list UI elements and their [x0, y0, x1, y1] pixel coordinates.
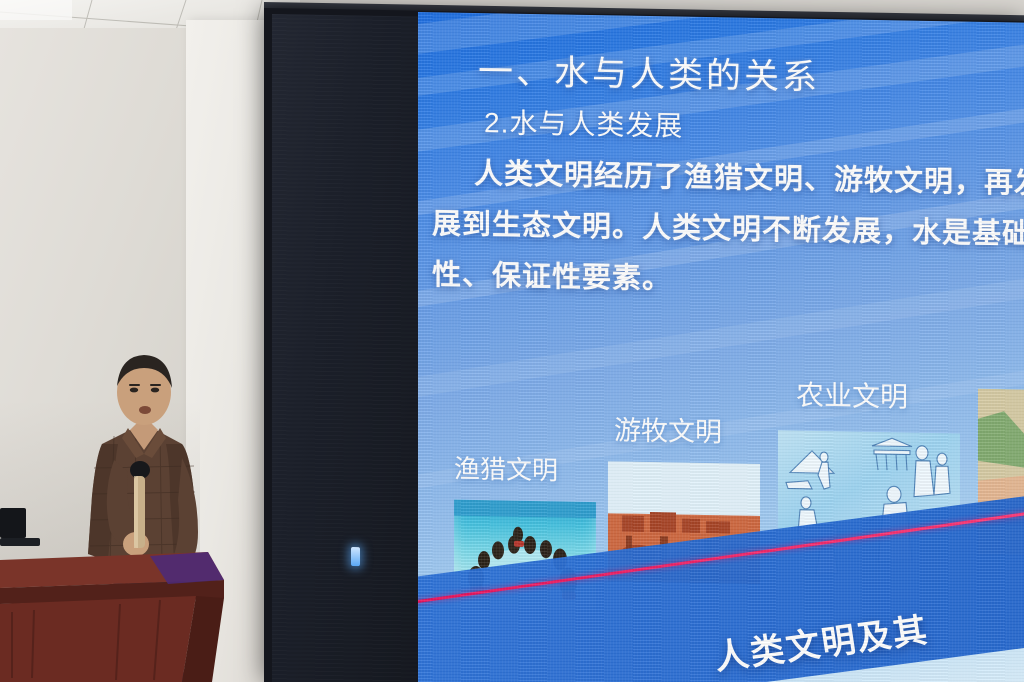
slide-title: 一、水与人类的关系 — [478, 43, 820, 100]
slide-subtitle: 2.水与人类发展 — [484, 101, 683, 144]
podium-front — [0, 596, 196, 682]
slide-content: 一、水与人类的关系 2.水与人类发展 人类文明经历了渔猎文明、游牧文明，再发展到… — [418, 12, 1024, 682]
caption-nomadic: 游牧文明 — [614, 408, 722, 449]
screenshot-root: 一、水与人类的关系 2.水与人类发展 人类文明经历了渔猎文明、游牧文明，再发展到… — [0, 0, 1024, 682]
led-wall-dark-section — [272, 14, 418, 682]
caption-agricultural: 农业文明 — [796, 374, 908, 416]
podium — [0, 538, 224, 682]
presenter-mouth — [139, 406, 151, 414]
caption-fishing-hunting: 渔猎文明 — [454, 449, 558, 488]
power-indicator-icon — [351, 547, 360, 566]
slide-body-text: 人类文明经历了渔猎文明、游牧文明，再发展到生态文明。人类文明不断发展，水是基础性… — [432, 148, 1024, 312]
